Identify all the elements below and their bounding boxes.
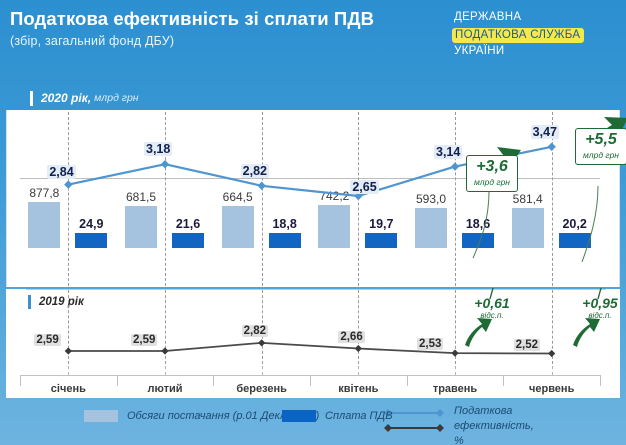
vat-bar <box>462 233 494 248</box>
month-label-квітень: квітень <box>307 383 409 395</box>
gridline-червень <box>552 366 553 375</box>
supply-bar-label: 664,5 <box>215 190 261 204</box>
gridline-лютий <box>165 290 166 364</box>
supply-bar <box>318 205 350 248</box>
efficiency-label-2020: 2,84 <box>47 165 75 179</box>
efficiency-label-2019: 2,59 <box>131 334 157 346</box>
legend-label-vat: Сплата ПДВ <box>325 410 393 422</box>
delta-may-unit: відс.п. <box>462 311 522 320</box>
efficiency-label-2020: 2,65 <box>350 180 378 194</box>
gridline-січень <box>68 290 69 364</box>
vat-bar <box>365 233 397 248</box>
legend-swatch-supply-icon <box>84 410 118 422</box>
supply-bar-label: 681,5 <box>118 190 164 204</box>
legend-label-efficiency-line1: Податкова <box>454 404 534 419</box>
organization-logo: ДЕРЖАВНА ПОДАТКОВА СЛУЖБА УКРАЇНИ <box>452 10 620 59</box>
delta-may-value: +0,61 <box>462 296 522 311</box>
efficiency-label-2019: 2,53 <box>417 338 443 350</box>
supply-bar-label: 581,4 <box>505 192 551 206</box>
band-year-2019-label: 2019 рік <box>39 296 84 308</box>
vat-bar <box>172 233 204 248</box>
gridline-березень <box>262 112 263 286</box>
supply-bar <box>125 206 157 248</box>
delta-may-2019: +0,61 відс.п. <box>462 296 522 320</box>
supply-bar <box>28 202 60 248</box>
callout-may-value: +3,6 <box>473 159 511 176</box>
supply-bar <box>415 208 447 248</box>
callout-june: +5,5 млрд грн <box>575 128 626 165</box>
month-label-червень: червень <box>501 383 603 395</box>
efficiency-label-2019: 2,66 <box>338 331 364 343</box>
infographic-root: Податкова ефективність зі сплати ПДВ (зб… <box>0 0 626 445</box>
month-label-березень: березень <box>211 383 313 395</box>
logo-line-ukraine: УКРАЇНИ <box>452 44 620 59</box>
vat-bar-label: 21,6 <box>165 217 211 231</box>
chart-legend: Обсяги постачання (р.01 Декларації) Спла… <box>6 398 620 443</box>
band-unit-label: млрд грн <box>94 92 138 104</box>
logo-line-state: ДЕРЖАВНА <box>452 10 620 25</box>
vat-bar <box>269 233 301 248</box>
chart-panel-2019 <box>6 289 620 365</box>
callout-june-unit: млрд грн <box>582 150 620 160</box>
callout-may-unit: млрд грн <box>473 177 511 187</box>
vat-bar-label: 18,8 <box>262 217 308 231</box>
gridline-січень <box>68 112 69 286</box>
title-block: Податкова ефективність зі сплати ПДВ (зб… <box>10 8 450 48</box>
page-title: Податкова ефективність зі сплати ПДВ <box>10 8 450 30</box>
legend-label-efficiency-line2: ефективність, % <box>454 419 534 445</box>
efficiency-label-2020: 3,47 <box>531 125 559 139</box>
logo-line-tax-service: ПОДАТКОВА СЛУЖБА <box>452 28 584 43</box>
callout-june-value: +5,5 <box>582 132 620 149</box>
panel-divider <box>26 289 606 290</box>
month-label-травень: травень <box>404 383 506 395</box>
efficiency-label-2020: 3,18 <box>144 142 172 156</box>
year-band-2019: 2019 рік <box>28 295 84 309</box>
vat-bar <box>75 233 107 248</box>
efficiency-label-2019: 2,59 <box>34 334 60 346</box>
gridline-квітень <box>358 366 359 375</box>
month-label-лютий: лютий <box>114 383 216 395</box>
efficiency-label-2019: 2,82 <box>242 325 268 337</box>
legend-label-efficiency: Податкова ефективність, % <box>454 404 534 445</box>
legend-item-vat: Сплата ПДВ <box>282 410 393 422</box>
gridline-травень <box>455 290 456 364</box>
delta-june-unit: відс.п. <box>570 311 626 320</box>
vat-bar-label: 18,6 <box>455 217 501 231</box>
gridline-червень <box>552 290 553 364</box>
efficiency-label-2020: 2,82 <box>241 164 269 178</box>
efficiency-label-2020: 3,14 <box>434 145 462 159</box>
year-band-2020: 2020 рік, млрд грн <box>6 86 620 110</box>
gridline-лютий <box>165 366 166 375</box>
efficiency-label-2019: 2,52 <box>514 339 540 351</box>
band-year-label: 2020 рік, <box>41 91 91 105</box>
supply-bar <box>512 208 544 248</box>
page-subtitle: (збір, загальний фонд ДБУ) <box>10 34 450 48</box>
month-label-січень: січень <box>17 383 119 395</box>
legend-swatch-vat-icon <box>282 410 316 422</box>
band-marker-2019-icon <box>28 295 31 309</box>
gridline-січень <box>68 366 69 375</box>
delta-june-2019: +0,95 відс.п. <box>570 296 626 320</box>
delta-june-value: +0,95 <box>570 296 626 311</box>
gridline-травень <box>455 366 456 375</box>
supply-bar-label: 877,8 <box>21 186 67 200</box>
vat-bar-label: 19,7 <box>358 217 404 231</box>
gridline-березень <box>262 366 263 375</box>
supply-bar <box>222 206 254 248</box>
band-marker-icon <box>30 91 33 106</box>
supply-bar-label: 593,0 <box>408 192 454 206</box>
gridline-квітень <box>358 290 359 364</box>
gridline-травень <box>455 112 456 286</box>
gridline-лютий <box>165 112 166 286</box>
vat-bar <box>559 233 591 248</box>
gridline-квітень <box>358 112 359 286</box>
vat-bar-label: 24,9 <box>68 217 114 231</box>
vat-bar-label: 20,2 <box>552 217 598 231</box>
callout-may: +3,6 млрд грн <box>466 155 518 192</box>
